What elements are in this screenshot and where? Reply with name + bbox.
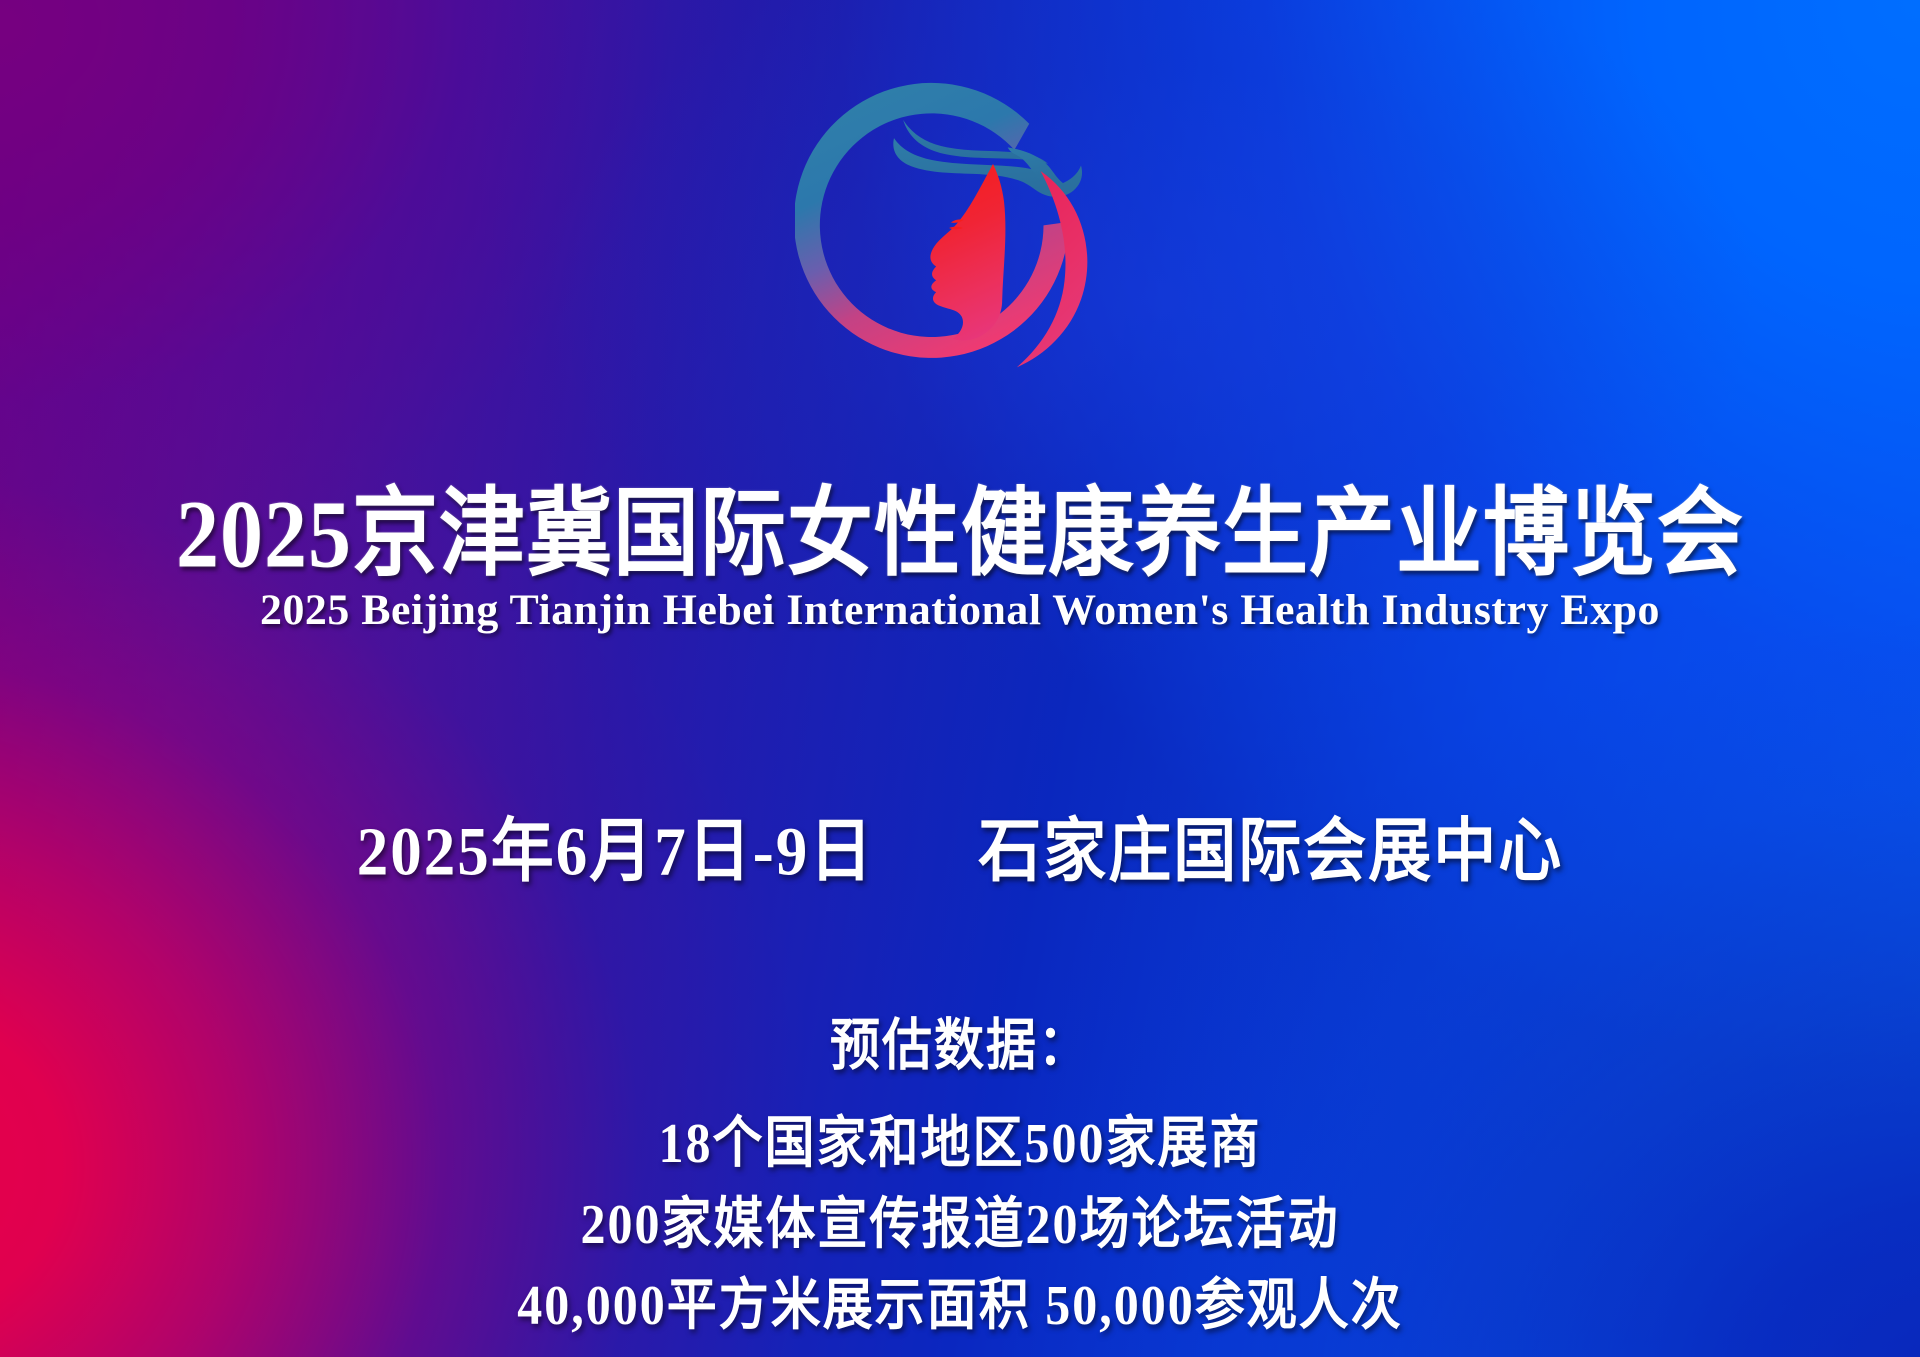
stats-line-media-forums: 200家媒体宣传报道20场论坛活动 [0,1179,1920,1270]
expo-logo-icon [795,58,1125,398]
poster-content: 2025京津冀国际女性健康养生产业博览会 2025 Beijing Tianji… [0,0,1920,1357]
stats-line-exhibitors: 18个国家和地区500家展商 [0,1098,1920,1189]
title-block: 2025京津冀国际女性健康养生产业博览会 2025 Beijing Tianji… [0,486,1920,633]
expo-title-english: 2025 Beijing Tianjin Hebei International… [0,588,1920,633]
stats-line-area-visitors: 40,000平方米展示面积 50,000参观人次 [0,1260,1920,1351]
expo-logo [795,58,1125,398]
expo-poster: 2025京津冀国际女性健康养生产业博览会 2025 Beijing Tianji… [0,0,1920,1357]
estimated-stats-block: 预估数据： 18个国家和地区500家展商 200家媒体宣传报道20场论坛活动 4… [0,1005,1920,1346]
event-date: 2025年6月7日-9日 [357,795,874,895]
stats-heading: 预估数据： [0,1001,1920,1082]
event-venue: 石家庄国际会展中心 [978,795,1563,895]
woman-profile-icon [930,164,1005,341]
expo-title-chinese: 2025京津冀国际女性健康养生产业博览会 [0,486,1920,584]
date-venue-row: 2025年6月7日-9日 石家庄国际会展中心 [0,800,1920,891]
